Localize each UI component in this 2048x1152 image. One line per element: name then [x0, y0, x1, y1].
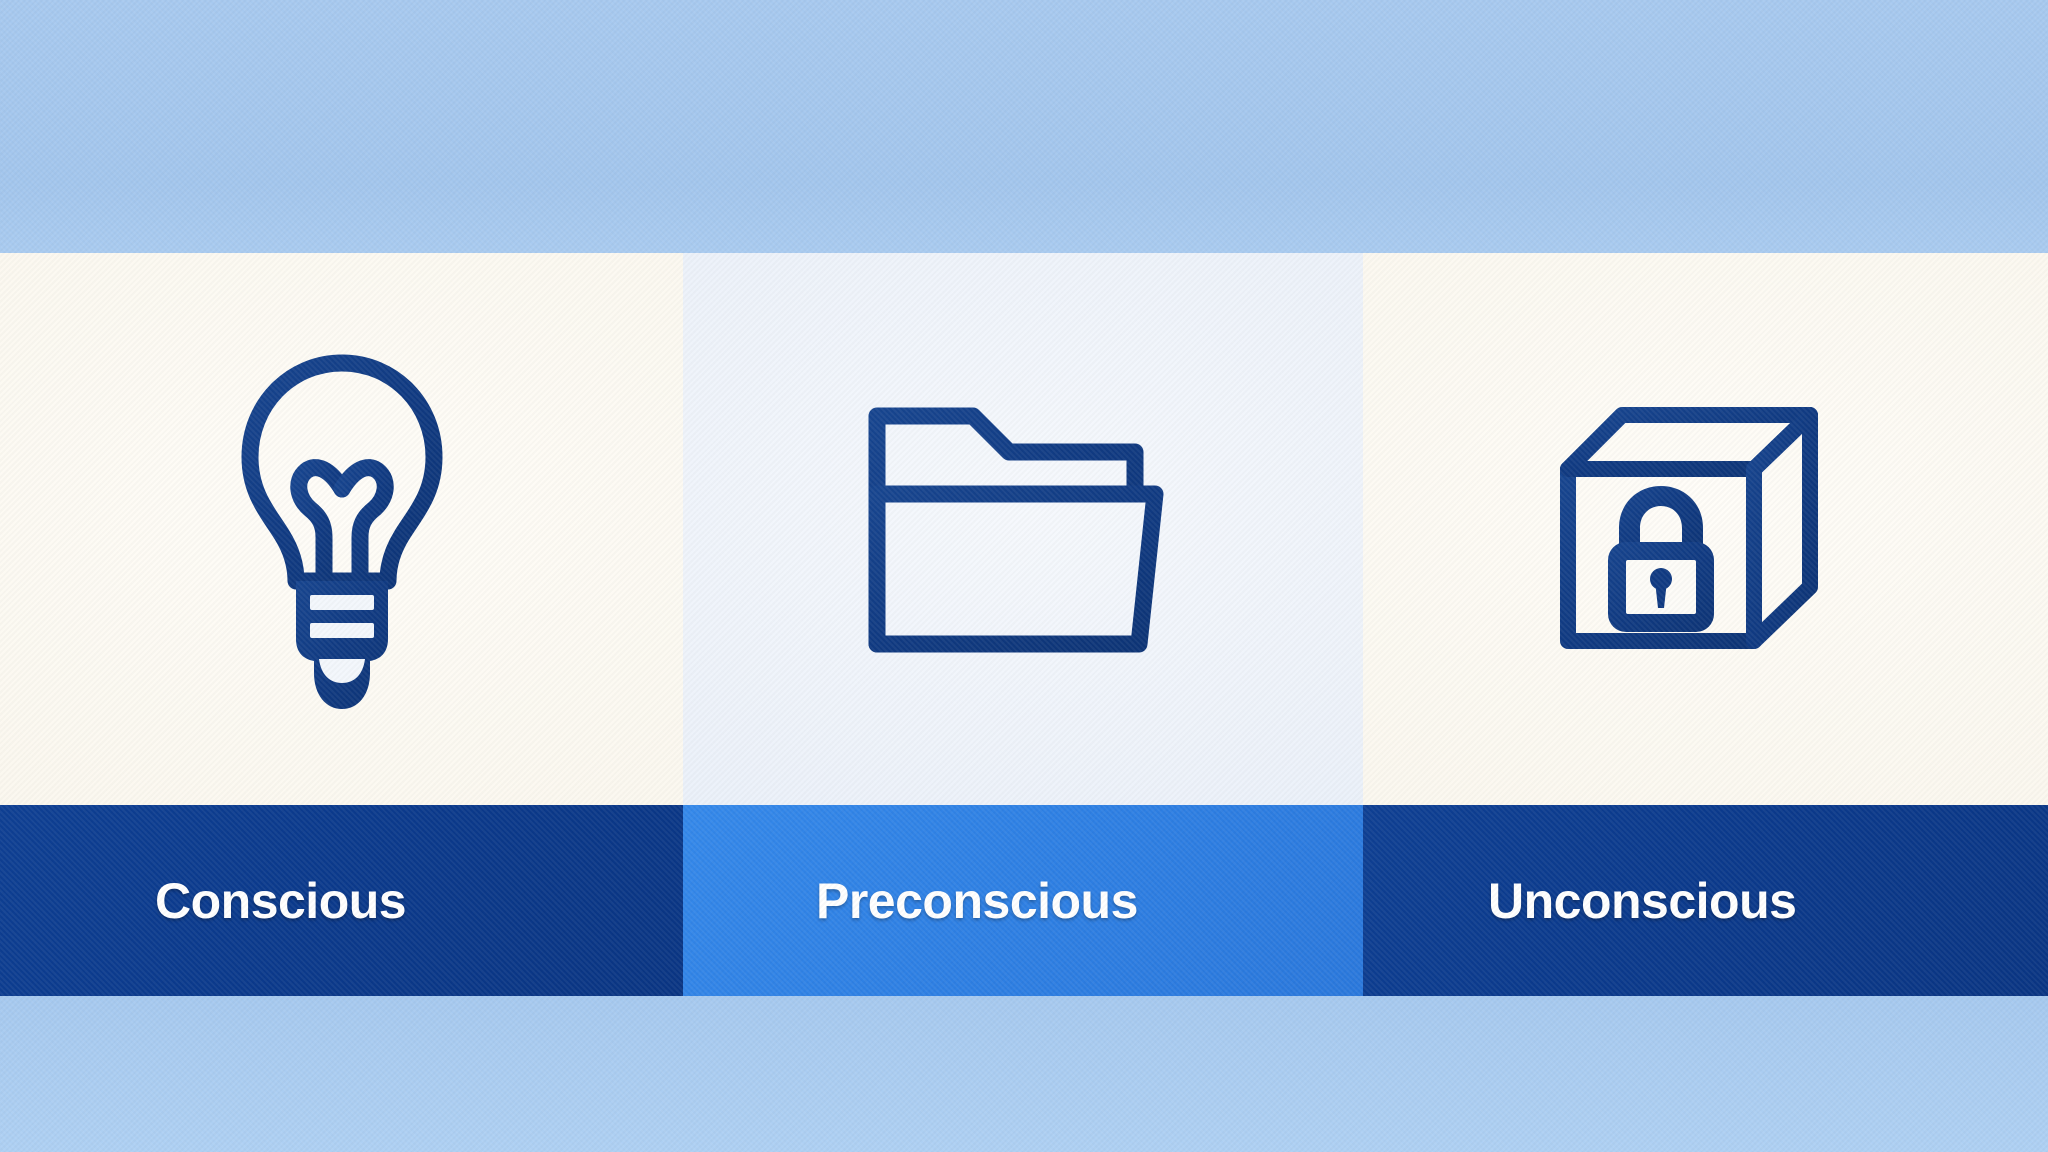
folder-icon	[683, 253, 1363, 805]
label-unconscious: Unconscious	[1488, 876, 1796, 926]
panel-unconscious	[1363, 253, 2048, 805]
panel-preconscious	[683, 253, 1363, 805]
panel-conscious	[0, 253, 683, 805]
locked-box-icon	[1363, 253, 2048, 805]
label-band-row: Conscious Preconscious Unconscious	[0, 805, 2048, 996]
label-band-preconscious[interactable]: Preconscious	[683, 805, 1363, 996]
label-band-unconscious[interactable]: Unconscious	[1363, 805, 2048, 996]
label-preconscious: Preconscious	[816, 876, 1138, 926]
infographic-canvas: Conscious Preconscious Unconscious	[0, 0, 2048, 1152]
label-band-conscious[interactable]: Conscious	[0, 805, 683, 996]
icon-panel-row	[0, 253, 2048, 805]
lightbulb-icon	[0, 253, 683, 805]
label-conscious: Conscious	[155, 876, 406, 926]
